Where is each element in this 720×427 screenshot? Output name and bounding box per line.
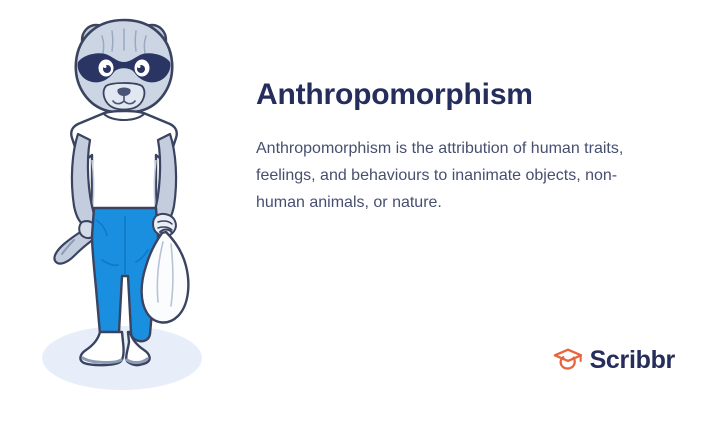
definition-card: Anthropomorphism Anthropomorphism is the… [0,0,720,427]
graduation-cap-icon [553,345,583,375]
raccoon-eye-highlight-left [104,65,107,68]
scribbr-wordmark: Scribbr [590,348,675,373]
definition-text: Anthropomorphism is the attribution of h… [256,135,646,216]
scribbr-logo[interactable]: Scribbr [553,345,675,375]
raccoon-eye-highlight-right [138,65,141,68]
raccoon-mascot-illustration [30,10,240,410]
graduation-cap-board [554,350,580,361]
page-title: Anthropomorphism [256,78,656,113]
text-block: Anthropomorphism Anthropomorphism is the… [256,78,656,216]
raccoon-mascot-svg [30,10,240,410]
